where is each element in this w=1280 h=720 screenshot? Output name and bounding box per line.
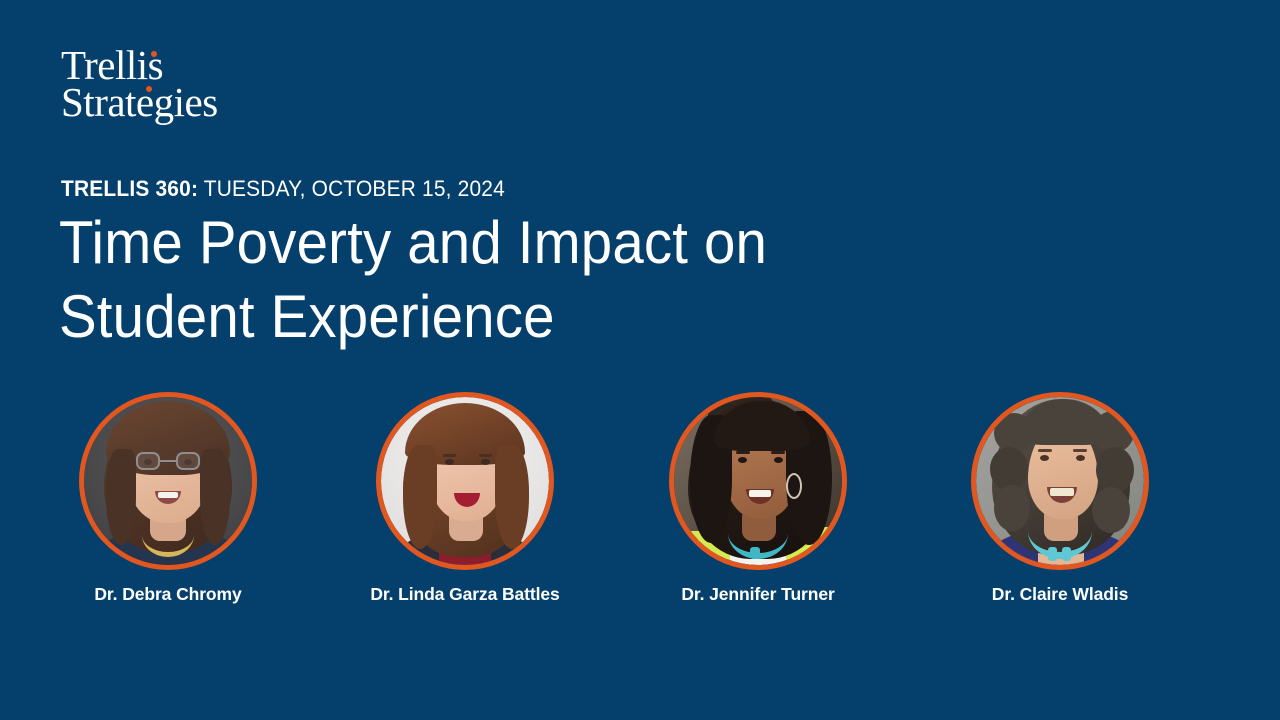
brand-logo: Trellis Strategies (61, 46, 218, 123)
headshot-debra-chromy (84, 397, 252, 565)
event-date: TUESDAY, OCTOBER 15, 2024 (198, 176, 505, 201)
page-title: Time Poverty and Impact on Student Exper… (59, 206, 767, 354)
logo-accent-dot-icon (151, 51, 157, 57)
speaker-name: Dr. Claire Wladis (960, 584, 1160, 605)
speaker-card: Dr. Linda Garza Battles (365, 392, 565, 605)
speaker-card: Dr. Jennifer Turner (658, 392, 858, 605)
avatar (971, 392, 1149, 570)
speaker-card: Dr. Claire Wladis (960, 392, 1160, 605)
speaker-name: Dr. Linda Garza Battles (365, 584, 565, 605)
event-kicker: TRELLIS 360: TUESDAY, OCTOBER 15, 2024 (61, 176, 505, 202)
speaker-list: Dr. Debra Chromy Dr. Linda Garza Bat (0, 392, 1280, 617)
series-label: TRELLIS 360: (61, 176, 198, 201)
avatar (79, 392, 257, 570)
headshot-linda-garza-battles (381, 397, 549, 565)
speaker-card: Dr. Debra Chromy (68, 392, 268, 605)
headshot-claire-wladis (976, 397, 1144, 565)
speaker-name: Dr. Jennifer Turner (658, 584, 858, 605)
speaker-name: Dr. Debra Chromy (68, 584, 268, 605)
logo-line-strategies: Strategies (61, 83, 218, 122)
logo-text-strategies: Strategies (61, 79, 218, 125)
headshot-jennifer-turner (674, 397, 842, 565)
avatar (376, 392, 554, 570)
avatar (669, 392, 847, 570)
